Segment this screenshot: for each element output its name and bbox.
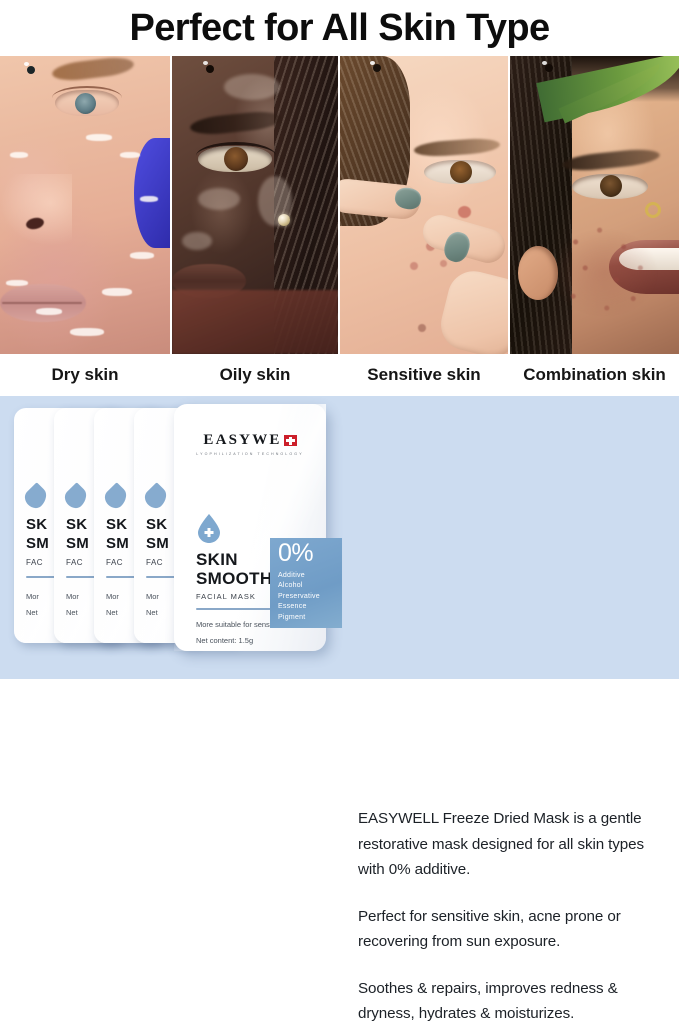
blemish-spot xyxy=(440,260,447,267)
badge-item: Pigment xyxy=(278,613,342,624)
description-paragraph-2: Perfect for sensitive skin, acne prone o… xyxy=(358,904,668,955)
pupil-shape xyxy=(206,65,214,73)
acne-scarring-area xyxy=(554,216,674,334)
product-name-line1: SKIN xyxy=(196,550,238,570)
sachet-name-partial: SK xyxy=(26,516,47,533)
skin-shine xyxy=(198,188,240,210)
sachet-line-partial: Mor xyxy=(146,592,159,601)
brand-tagline: LYOPHILIZATION TECHNOLOGY xyxy=(196,452,303,456)
eye-glint xyxy=(203,61,208,65)
sachet-line-partial: Net xyxy=(146,608,158,617)
skin-flake xyxy=(70,328,104,336)
pupil-shape xyxy=(27,66,35,74)
skin-flake xyxy=(6,280,28,286)
skin-flake xyxy=(86,134,112,141)
sachet-front: EASYWE LYOPHILIZATION TECHNOLOGY SKIN SM… xyxy=(174,404,326,651)
ear-shape xyxy=(518,246,558,300)
clothing-collar xyxy=(172,290,338,354)
description-paragraph-3: Soothes & repairs, improves redness & dr… xyxy=(358,976,668,1027)
eye-shape xyxy=(572,174,648,199)
description-copy: EASYWELL Freeze Dried Mask is a gentle r… xyxy=(358,806,668,1027)
sachet-line-partial: Net xyxy=(66,608,78,617)
brand-logo-text: EASYWE xyxy=(203,432,281,449)
skin-shine xyxy=(182,232,212,250)
lip-line xyxy=(2,302,82,304)
oily-skin-image xyxy=(172,56,338,354)
dry-skin-image xyxy=(0,56,170,354)
eyebrow-shape xyxy=(189,109,282,137)
photo-sensitive-skin xyxy=(340,56,508,354)
photo-oily-skin xyxy=(172,56,338,354)
sachet-name-partial: SK xyxy=(106,516,127,533)
skin-flake xyxy=(140,196,158,202)
title-band: Perfect for All Skin Type xyxy=(0,0,679,56)
sachet-line-partial: Net xyxy=(26,608,38,617)
skin-shine xyxy=(258,176,292,226)
sachet-subtitle-partial: FAC xyxy=(146,558,163,567)
sachet-name-partial: SM xyxy=(146,535,169,552)
sachet-subtitle-partial: FAC xyxy=(26,558,43,567)
skin-flake xyxy=(36,308,62,315)
eye-glint xyxy=(542,61,547,65)
photo-dry-skin xyxy=(0,56,170,354)
sachet-name-partial: SM xyxy=(66,535,89,552)
skin-flake xyxy=(130,252,154,259)
description-paragraph-1: EASYWELL Freeze Dried Mask is a gentle r… xyxy=(358,806,668,883)
sachet-line-partial: Mor xyxy=(26,592,39,601)
sachet-name-partial: SK xyxy=(146,516,167,533)
water-drop-icon xyxy=(196,514,222,543)
badge-item: Preservative xyxy=(278,592,342,603)
sachet-line-partial: Mor xyxy=(106,592,119,601)
product-net-content: Net content: 1.5g xyxy=(196,636,253,645)
sensitive-skin-image xyxy=(340,56,508,354)
sachet-name-partial: SM xyxy=(106,535,129,552)
eye-glint xyxy=(24,62,29,66)
eyelash-line xyxy=(52,86,122,98)
badge-item: Essence xyxy=(278,602,342,613)
photo-combination-skin xyxy=(510,56,679,354)
eye-glint xyxy=(370,61,375,65)
sachet-line-partial: Mor xyxy=(66,592,79,601)
product-sachet-stack: SK SM FAC Mor Net SK SM FAC Mor Net xyxy=(0,396,340,679)
product-subtitle: FACIAL MASK xyxy=(196,592,256,601)
badge-value: 0% xyxy=(278,542,342,566)
sachet-line-partial: Net xyxy=(106,608,118,617)
caption-dry-skin: Dry skin xyxy=(0,354,170,396)
eyebrow-shape xyxy=(561,147,660,173)
pupil-shape xyxy=(545,64,553,72)
combination-skin-image xyxy=(510,56,679,354)
sachet-subtitle-partial: FAC xyxy=(66,558,83,567)
skin-type-photo-strip xyxy=(0,56,679,354)
zero-percent-badge: 0% Additive Alcohol Preservative Essence… xyxy=(270,538,342,628)
pupil-shape xyxy=(373,64,381,72)
nose-ring xyxy=(645,202,661,218)
nose-highlight xyxy=(0,174,72,246)
badge-item: Alcohol xyxy=(278,581,342,592)
product-description-panel: SK SM FAC Mor Net SK SM FAC Mor Net xyxy=(0,396,679,679)
skin-flake xyxy=(10,152,28,158)
blemish-spot xyxy=(410,262,418,270)
skin-shine xyxy=(224,74,280,100)
skin-flake xyxy=(102,288,132,296)
caption-row: Dry skin Oily skin Sensitive skin Combin… xyxy=(0,354,679,396)
brand-logo: EASYWE LYOPHILIZATION TECHNOLOGY xyxy=(174,432,326,456)
eyebrow-shape xyxy=(51,56,135,83)
sachet-name-partial: SK xyxy=(66,516,87,533)
badge-item-list: Additive Alcohol Preservative Essence Pi… xyxy=(278,571,342,624)
skin-flake xyxy=(120,152,140,158)
page-title: Perfect for All Skin Type xyxy=(130,9,550,47)
infographic-page: Perfect for All Skin Type xyxy=(0,0,679,679)
sachet-subtitle-partial: FAC xyxy=(106,558,123,567)
finger-shape xyxy=(435,266,508,354)
eye-shape xyxy=(424,160,496,184)
brand-logo-row: EASYWE xyxy=(203,432,296,449)
iris-shape xyxy=(450,161,472,183)
blemish-spot xyxy=(418,324,426,332)
swiss-cross-icon xyxy=(284,435,297,446)
eyebrow-shape xyxy=(414,137,501,158)
caption-combination-skin: Combination skin xyxy=(510,354,679,396)
badge-item: Additive xyxy=(278,571,342,582)
eyelash-line xyxy=(196,142,276,156)
caption-sensitive-skin: Sensitive skin xyxy=(340,354,508,396)
sachet-name-partial: SM xyxy=(26,535,49,552)
caption-oily-skin: Oily skin xyxy=(172,354,338,396)
blemish-spot xyxy=(458,206,471,218)
iris-shape xyxy=(600,175,622,197)
